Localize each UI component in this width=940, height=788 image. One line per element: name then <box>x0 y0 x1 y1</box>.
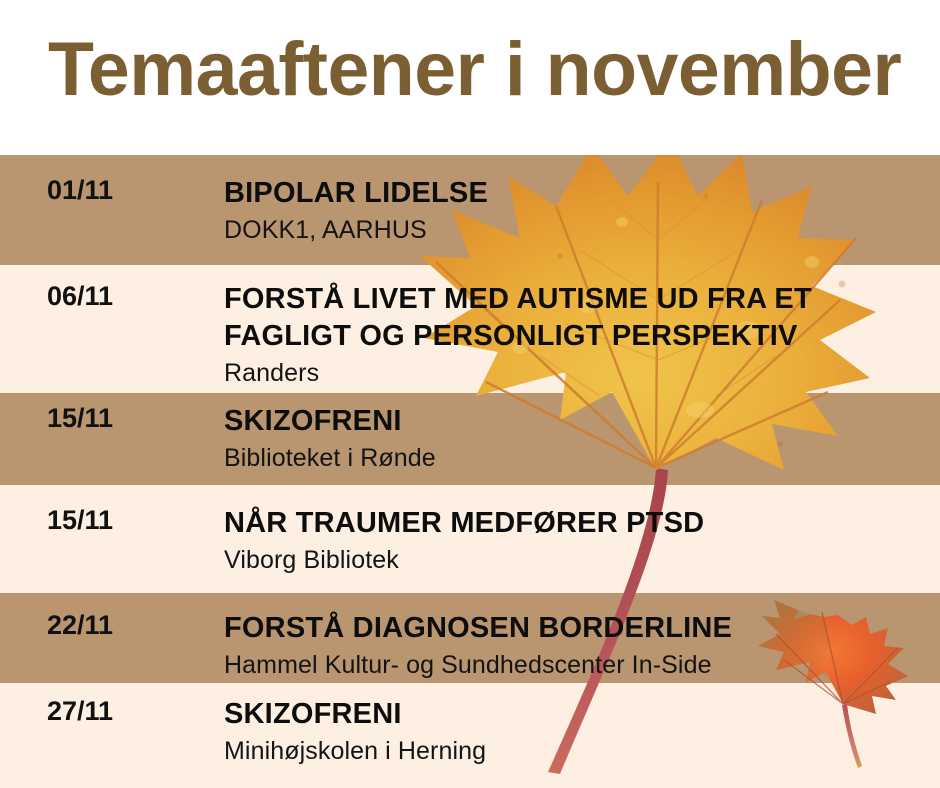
event-venue: Viborg Bibliotek <box>224 544 940 576</box>
event-row-4[interactable]: 15/11 NÅR TRAUMER MEDFØRER PTSD Viborg B… <box>0 505 940 576</box>
event-venue: Biblioteket i Rønde <box>224 442 940 474</box>
event-date: 22/11 <box>0 610 160 641</box>
page-title: Temaaftener i november <box>48 26 901 114</box>
event-venue: Hammel Kultur- og Sundhedscenter In-Side <box>224 649 940 681</box>
event-title: NÅR TRAUMER MEDFØRER PTSD <box>224 505 824 542</box>
poster-canvas: Temaaftener i november 01/11 BIPOLAR LID… <box>0 0 940 788</box>
event-body: SKIZOFRENI Minihøjskolen i Herning <box>160 696 940 767</box>
event-body: BIPOLAR LIDELSE DOKK1, AARHUS <box>160 175 940 246</box>
event-date: 01/11 <box>0 175 160 206</box>
event-title: FORSTÅ DIAGNOSEN BORDERLINE <box>224 610 824 647</box>
event-title: BIPOLAR LIDELSE <box>224 175 824 212</box>
event-title: FORSTÅ LIVET MED AUTISME UD FRA ET FAGLI… <box>224 281 824 355</box>
event-venue: DOKK1, AARHUS <box>224 214 940 246</box>
event-date: 15/11 <box>0 403 160 434</box>
event-venue: Minihøjskolen i Herning <box>224 735 940 767</box>
event-row-2[interactable]: 06/11 FORSTÅ LIVET MED AUTISME UD FRA ET… <box>0 281 940 389</box>
header-strip: Temaaftener i november <box>0 0 940 155</box>
event-date: 27/11 <box>0 696 160 727</box>
event-body: FORSTÅ DIAGNOSEN BORDERLINE Hammel Kultu… <box>160 610 940 681</box>
event-body: NÅR TRAUMER MEDFØRER PTSD Viborg Bibliot… <box>160 505 940 576</box>
event-row-6[interactable]: 27/11 SKIZOFRENI Minihøjskolen i Herning <box>0 696 940 767</box>
event-body: SKIZOFRENI Biblioteket i Rønde <box>160 403 940 474</box>
event-body: FORSTÅ LIVET MED AUTISME UD FRA ET FAGLI… <box>160 281 940 389</box>
event-title: SKIZOFRENI <box>224 696 824 733</box>
event-row-5[interactable]: 22/11 FORSTÅ DIAGNOSEN BORDERLINE Hammel… <box>0 610 940 681</box>
event-date: 06/11 <box>0 281 160 312</box>
event-title: SKIZOFRENI <box>224 403 824 440</box>
event-venue: Randers <box>224 357 940 389</box>
event-row-1[interactable]: 01/11 BIPOLAR LIDELSE DOKK1, AARHUS <box>0 175 940 246</box>
event-row-3[interactable]: 15/11 SKIZOFRENI Biblioteket i Rønde <box>0 403 940 474</box>
event-date: 15/11 <box>0 505 160 536</box>
